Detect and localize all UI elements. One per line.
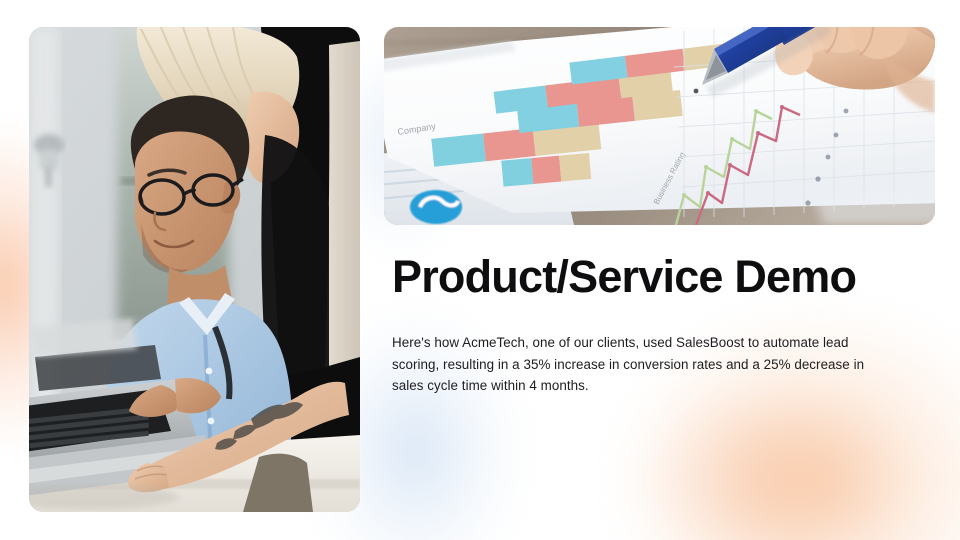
slide-body-text: Here's how AcmeTech, one of our clients,… xyxy=(392,302,892,396)
peach-glow-bottom-right-inner-icon xyxy=(640,380,900,540)
chart-analysis-photo: Company Business Rating xyxy=(384,27,935,225)
chart-analysis-photo-artwork: Company Business Rating xyxy=(384,27,935,225)
team-collaboration-photo-artwork xyxy=(29,27,360,512)
slide-canvas: Company Business Rating xyxy=(0,0,960,540)
page-title: Product/Service Demo xyxy=(392,252,897,302)
team-collaboration-photo xyxy=(29,27,360,512)
text-column: Product/Service Demo Here's how AcmeTech… xyxy=(392,252,897,396)
